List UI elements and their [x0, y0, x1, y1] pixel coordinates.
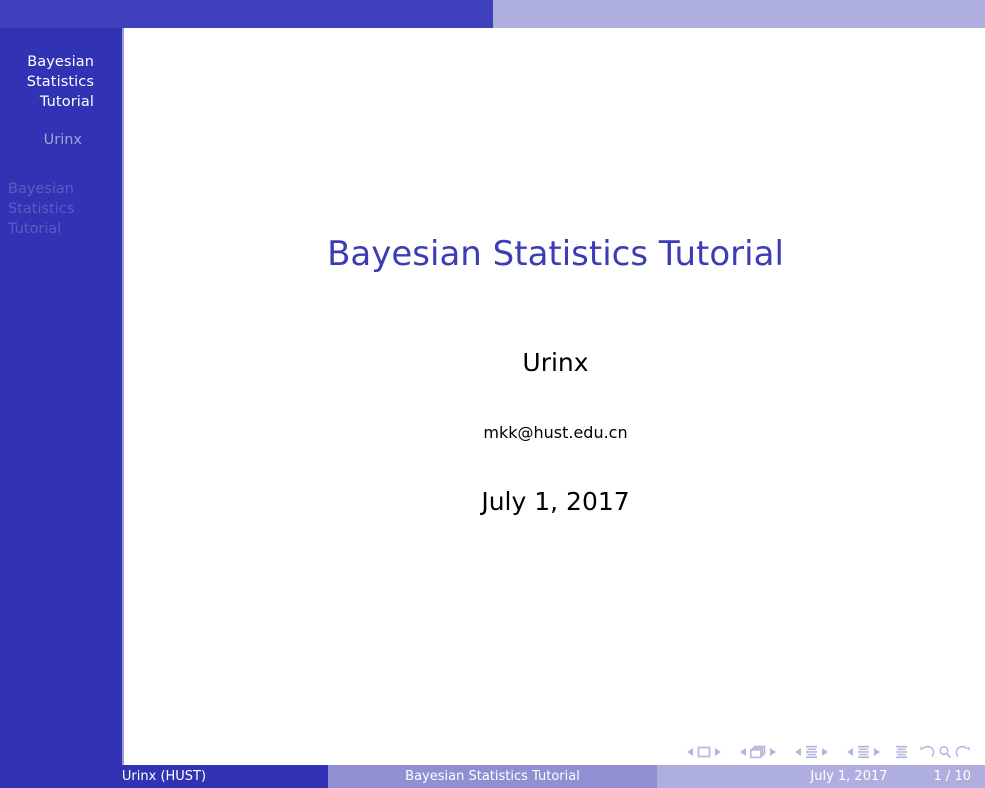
footer-author: Urinx (HUST): [0, 765, 328, 788]
sidebar-title-line-2: Statistics: [0, 72, 94, 92]
sidebar-toc-line-1: Bayesian: [8, 179, 122, 199]
nav-group-section[interactable]: [843, 745, 884, 759]
nav-group-document[interactable]: [895, 745, 908, 759]
footer-date: July 1, 2017: [810, 769, 887, 784]
nav-group-slide[interactable]: [683, 746, 725, 758]
nav-group-subsection[interactable]: [791, 745, 832, 759]
page-title: Bayesian Statistics Tutorial: [126, 233, 985, 275]
frames-icon[interactable]: [750, 745, 766, 759]
sidebar-toc-line-2: Statistics: [8, 199, 122, 219]
navigation-symbols[interactable]: [683, 742, 971, 762]
nav-group-frame[interactable]: [736, 745, 780, 759]
slide-icon[interactable]: [697, 746, 711, 758]
sidebar-author-label: Urinx: [0, 130, 82, 150]
back-arrow-icon[interactable]: [919, 745, 935, 759]
footer-title: Bayesian Statistics Tutorial: [328, 765, 657, 788]
head-bar-left-segment: [0, 0, 493, 28]
forward-arrow-icon[interactable]: [955, 745, 971, 759]
title-page: Bayesian Statistics Tutorial Urinx mkk@h…: [126, 28, 985, 518]
sidebar-toc-line-3: Tutorial: [8, 219, 122, 239]
subsection-icon[interactable]: [805, 745, 818, 759]
title-date: July 1, 2017: [126, 486, 985, 518]
triangle-right-icon[interactable]: [822, 748, 828, 756]
slide-head-bar: [0, 0, 985, 28]
triangle-left-icon[interactable]: [687, 748, 693, 756]
triangle-right-icon[interactable]: [715, 748, 721, 756]
document-icon[interactable]: [895, 745, 908, 759]
slide-foot-bar: Urinx (HUST) Bayesian Statistics Tutoria…: [0, 765, 985, 788]
footer-page-number: 1 / 10: [934, 769, 971, 784]
sidebar-title-line-1: Bayesian: [0, 52, 94, 72]
triangle-right-icon[interactable]: [874, 748, 880, 756]
title-author: Urinx: [126, 347, 985, 379]
triangle-left-icon[interactable]: [795, 748, 801, 756]
triangle-left-icon[interactable]: [740, 748, 746, 756]
sidebar: Bayesian Statistics Tutorial Urinx Bayes…: [0, 28, 124, 765]
sidebar-presentation-title: Bayesian Statistics Tutorial: [0, 52, 122, 112]
nav-group-history[interactable]: [919, 745, 971, 759]
search-icon[interactable]: [938, 745, 952, 759]
title-email: mkk@hust.edu.cn: [126, 422, 985, 444]
triangle-right-icon[interactable]: [770, 748, 776, 756]
section-icon[interactable]: [857, 745, 870, 759]
sidebar-title-line-3: Tutorial: [0, 92, 94, 112]
slide-frame: Bayesian Statistics Tutorial Urinx mkk@h…: [126, 28, 985, 765]
sidebar-author: Urinx: [0, 130, 122, 150]
head-bar-right-segment: [493, 0, 985, 28]
footer-date-page: July 1, 2017 1 / 10: [657, 765, 985, 788]
triangle-left-icon[interactable]: [847, 748, 853, 756]
sidebar-toc-item-bayesian-statistics-tutorial[interactable]: Bayesian Statistics Tutorial: [0, 179, 122, 239]
